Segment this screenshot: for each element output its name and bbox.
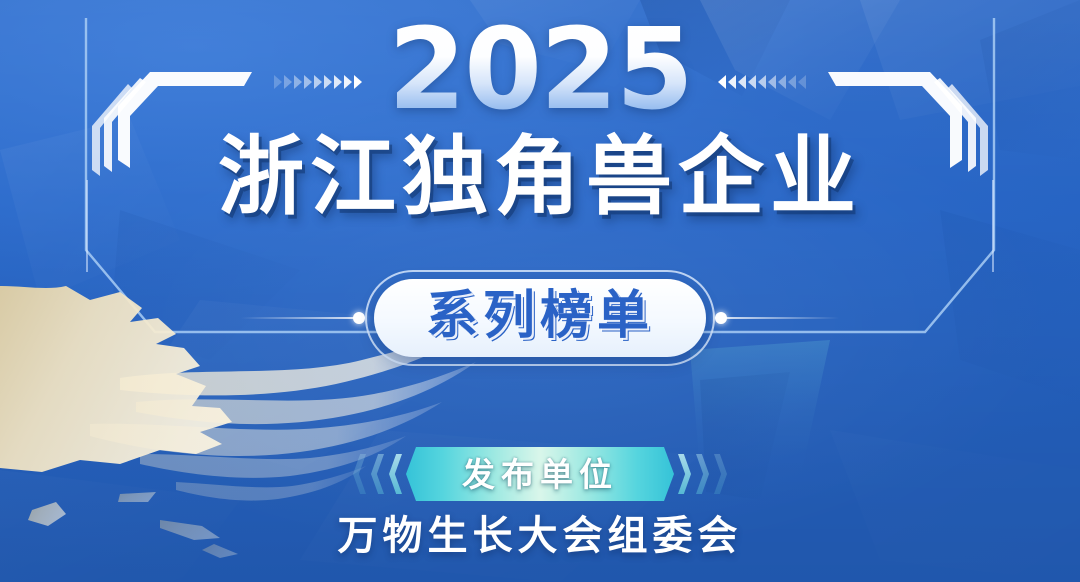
subtitle-pill-row: 系列榜单 [0,272,1080,364]
publisher-label: 发布单位 [462,458,618,491]
subtitle-pill-label: 系列榜单 [426,290,654,342]
connector-line-left [241,317,361,319]
subtitle-pill: 系列榜单 [374,279,706,357]
chevrons-pointing-right-icon [274,75,362,89]
poster-canvas: 2025 浙江独角兽企业 系列榜单 [0,0,1080,582]
publisher-chevrons-left-icon [353,454,402,494]
poster-title: 浙江独角兽企业 [0,132,1080,222]
year-row: 2025 [0,10,1080,130]
connector-line-right [719,317,839,319]
poster-year: 2025 [388,14,692,126]
subtitle-pill-ring: 系列榜单 [365,270,715,366]
chevrons-pointing-left-icon [718,75,806,89]
publisher-chevrons-right-icon [678,454,727,494]
connector-dot-left-icon [353,312,365,324]
organizer-name: 万物生长大会组委会 [0,512,1080,560]
publisher-banner: 发布单位 [406,447,674,501]
publisher-row: 发布单位 [0,443,1080,505]
connector-dot-right-icon [715,312,727,324]
